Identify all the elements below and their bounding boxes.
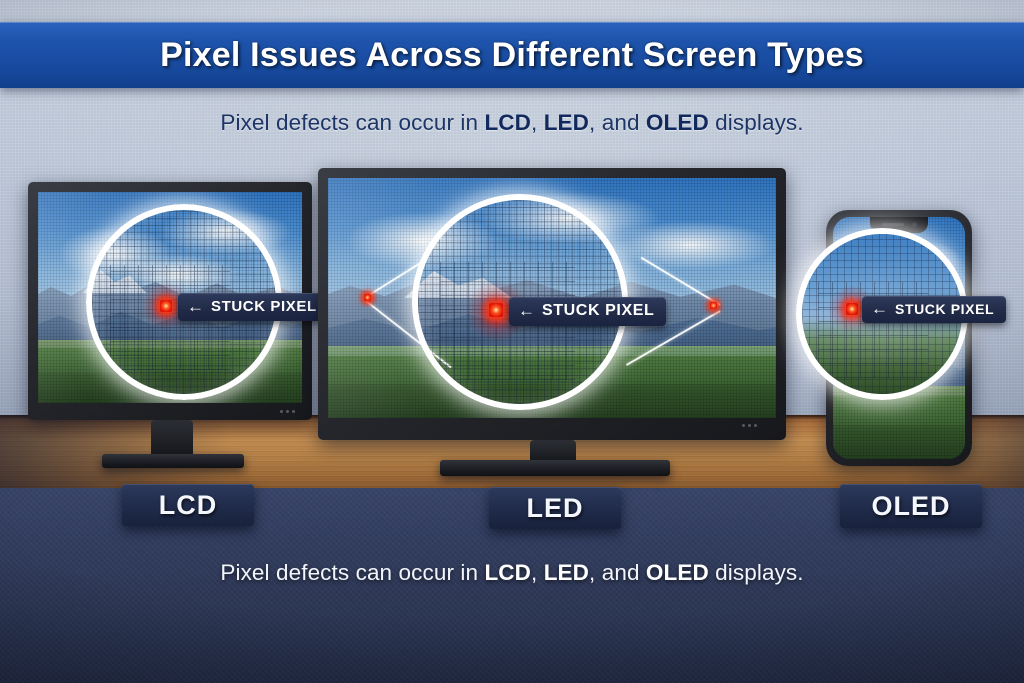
lcd-stuck-pixel-core [160, 300, 172, 312]
earpiece-speaker-icon [882, 223, 904, 226]
led-stuck-pixel-callout[interactable]: ← STUCK PIXEL [509, 297, 666, 326]
bottom-caption-text: Pixel defects can occur in LCD, LED, and… [0, 560, 1024, 586]
caption-term-lcd: LCD [484, 560, 531, 585]
subtitle-term-oled: OLED [646, 110, 709, 135]
subtitle-text: Pixel defects can occur in LCD, LED, and… [0, 110, 1024, 136]
callout-label: STUCK PIXEL [542, 302, 654, 320]
caption-term-oled: OLED [646, 560, 709, 585]
led-indicator-dots [742, 424, 757, 427]
caption-lead: Pixel defects can occur in [220, 560, 484, 585]
name-plate-oled-label: OLED [871, 491, 950, 522]
subtitle-sep-2: , and [589, 110, 646, 135]
oled-stuck-pixel-callout[interactable]: ← STUCK PIXEL [862, 296, 1006, 323]
caption-term-led: LED [544, 560, 589, 585]
lcd-indicator-dots [280, 410, 295, 413]
subtitle-term-lcd: LCD [484, 110, 531, 135]
title-banner: Pixel Issues Across Different Screen Typ… [0, 22, 1024, 88]
subtitle-term-led: LED [544, 110, 589, 135]
subtitle-lead: Pixel defects can occur in [220, 110, 484, 135]
lcd-stand-neck [151, 420, 193, 458]
name-plate-led[interactable]: LED [489, 487, 621, 529]
name-plate-oled[interactable]: OLED [840, 484, 982, 528]
page-title: Pixel Issues Across Different Screen Typ… [160, 36, 864, 75]
subtitle-sep-1: , [531, 110, 544, 135]
subtitle-tail: displays. [709, 110, 804, 135]
infographic-canvas: Pixel Issues Across Different Screen Typ… [0, 0, 1024, 683]
callout-label: STUCK PIXEL [895, 301, 994, 317]
lcd-stuck-pixel-callout[interactable]: ← STUCK PIXEL [178, 293, 329, 321]
arrow-left-icon: ← [518, 302, 535, 319]
device-lcd-monitor [18, 180, 318, 480]
led-stuck-pixel-core [489, 303, 503, 317]
name-plate-lcd-label: LCD [159, 490, 218, 521]
name-plate-led-label: LED [527, 493, 584, 524]
oled-stuck-pixel-core [846, 303, 858, 315]
callout-label: STUCK PIXEL [211, 298, 317, 315]
front-camera-icon [912, 222, 917, 227]
caption-sep-2: , and [589, 560, 646, 585]
led-secondary-defect-right-core [710, 302, 717, 309]
lcd-stand-base [102, 454, 244, 468]
name-plate-lcd[interactable]: LCD [122, 484, 254, 526]
led-stand-base [440, 460, 670, 476]
caption-tail: displays. [709, 560, 804, 585]
arrow-left-icon: ← [871, 300, 888, 317]
led-secondary-defect-left-core [364, 294, 371, 301]
arrow-left-icon: ← [187, 298, 204, 315]
caption-sep-1: , [531, 560, 544, 585]
